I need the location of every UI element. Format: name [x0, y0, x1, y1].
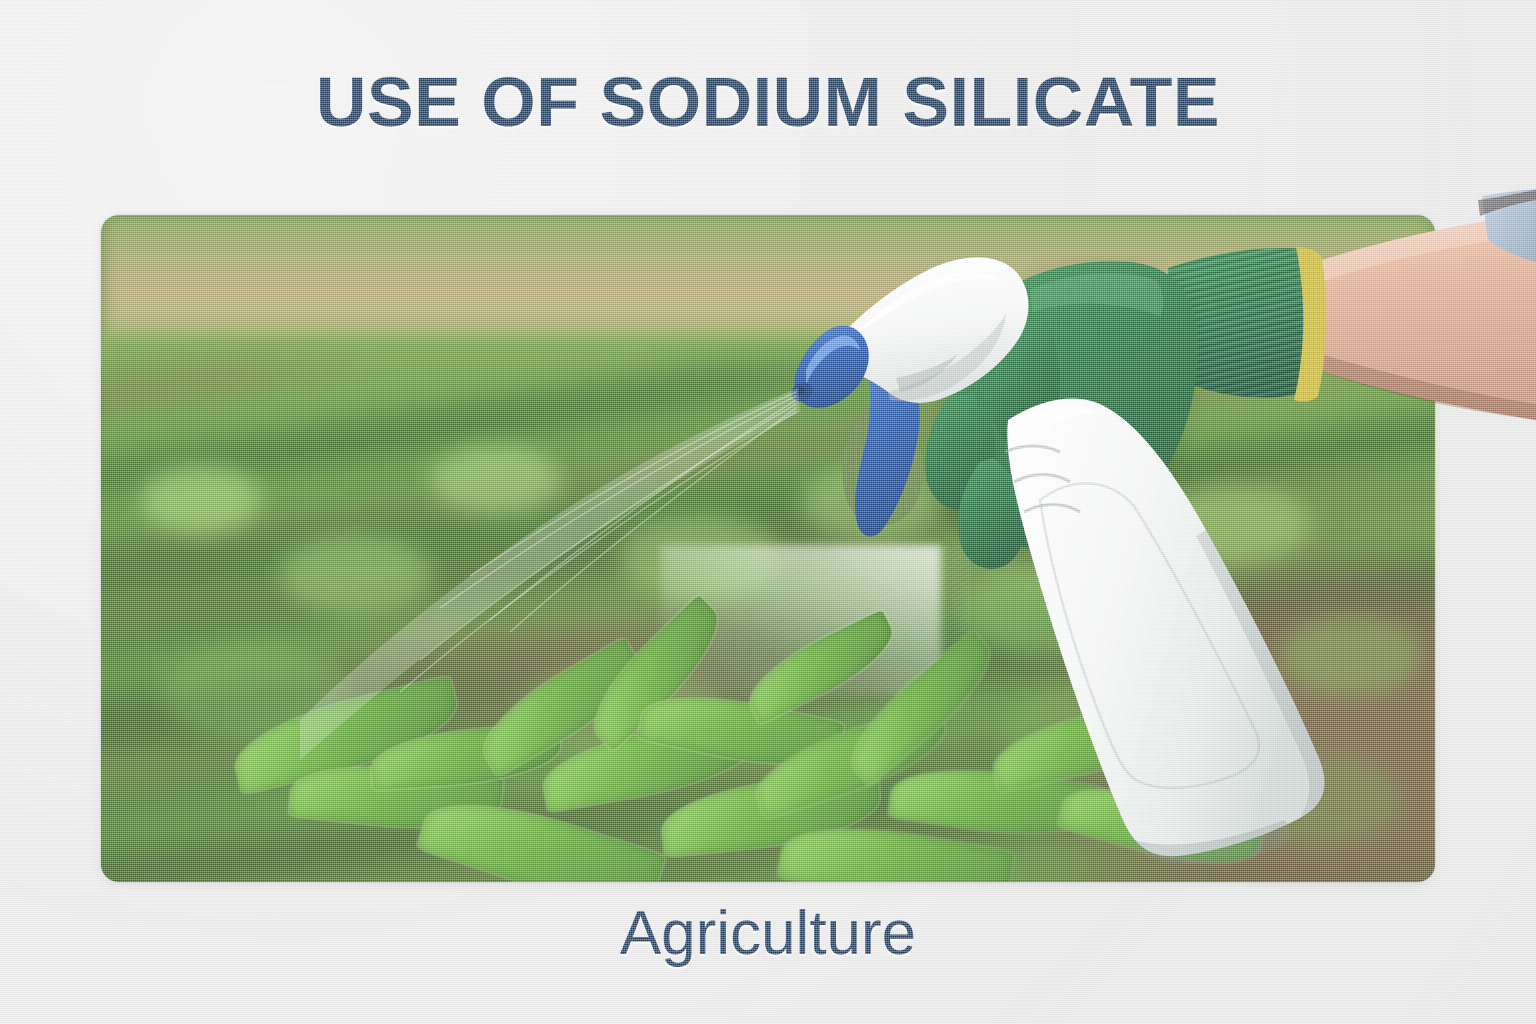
page-title: USE OF SODIUM SILICATE	[0, 62, 1536, 142]
blurred-leaf-blob	[431, 445, 561, 515]
blurred-leaf-blob	[1241, 755, 1401, 845]
sleeve-cuff-edge	[1478, 190, 1536, 216]
foliage-leaf	[835, 630, 1006, 786]
sleeve-cuff	[1482, 189, 1536, 262]
blurred-leaf-blob	[801, 465, 941, 540]
foliage-leaf	[987, 698, 1184, 792]
blurred-leaf-blob	[141, 465, 261, 535]
blurred-leaf-blob	[1161, 485, 1311, 565]
photo-card	[101, 215, 1435, 882]
blurred-leaf-blob	[1281, 615, 1421, 695]
caption-text: Agriculture	[0, 898, 1536, 969]
photo-inner	[101, 215, 1435, 882]
foreground-foliage-right	[741, 622, 1261, 882]
slide-canvas: USE OF SODIUM SILICATE	[0, 0, 1536, 1024]
